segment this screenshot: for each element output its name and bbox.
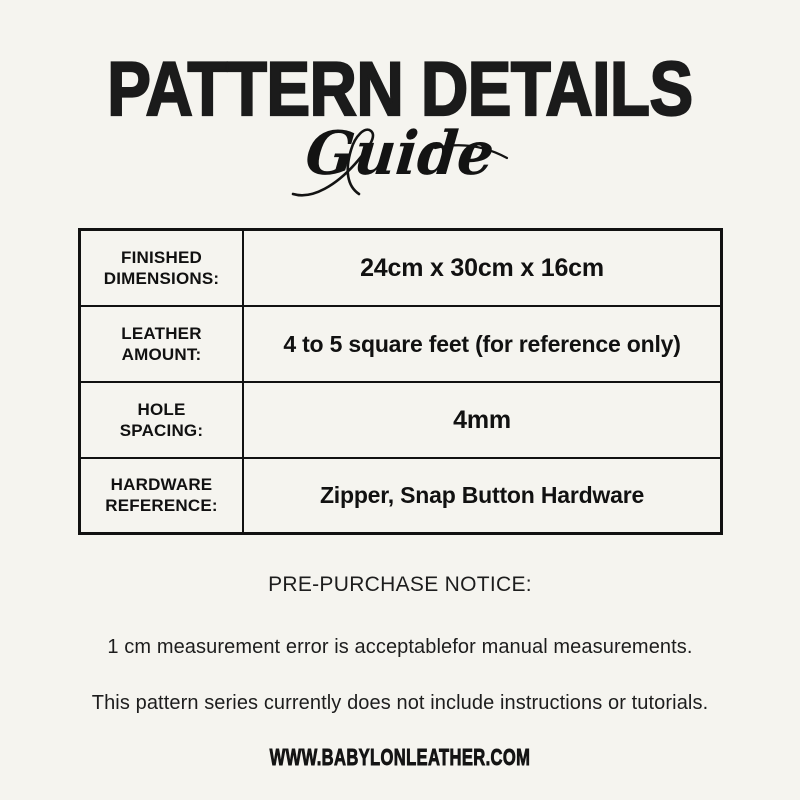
title-script-overlay: Guide xyxy=(0,124,800,184)
table-row: FINISHED DIMENSIONS: 24cm x 30cm x 16cm xyxy=(80,230,722,306)
spec-label-leather-amount: LEATHER AMOUNT: xyxy=(80,306,244,382)
spec-value-hardware-reference: Zipper, Snap Button Hardware xyxy=(243,458,722,534)
notice-line-no-instructions: This pattern series currently does not i… xyxy=(0,690,800,716)
spec-value-leather-amount: 4 to 5 square feet (for reference only) xyxy=(243,306,722,382)
spec-label-hardware-reference: HARDWARE REFERENCE: xyxy=(80,458,244,534)
spec-label-line: REFERENCE: xyxy=(81,495,242,516)
footer-website-url: WWW.BABYLONLEATHER.COM xyxy=(270,744,531,770)
spec-label-line: HARDWARE xyxy=(81,474,242,495)
script-swash-flourish xyxy=(285,124,515,202)
notice-heading: PRE-PURCHASE NOTICE: xyxy=(0,572,800,598)
spec-label-hole-spacing: HOLE SPACING: xyxy=(80,382,244,458)
spec-value-hole-spacing: 4mm xyxy=(243,382,722,458)
header-title-block: PATTERN DETAILS Guide xyxy=(0,52,800,192)
pattern-details-guide-card: PATTERN DETAILS Guide FINISHED DIMENSION… xyxy=(0,0,800,800)
table-row: LEATHER AMOUNT: 4 to 5 square feet (for … xyxy=(80,306,722,382)
spec-label-line: LEATHER xyxy=(81,323,242,344)
table-row: HOLE SPACING: 4mm xyxy=(80,382,722,458)
table-row: HARDWARE REFERENCE: Zipper, Snap Button … xyxy=(80,458,722,534)
spec-label-line: AMOUNT: xyxy=(81,344,242,365)
spec-label-line: HOLE xyxy=(81,399,242,420)
spec-label-finished-dimensions: FINISHED DIMENSIONS: xyxy=(80,230,244,306)
pattern-specs-table: FINISHED DIMENSIONS: 24cm x 30cm x 16cm … xyxy=(78,228,723,535)
spec-value-finished-dimensions: 24cm x 30cm x 16cm xyxy=(243,230,722,306)
pre-purchase-notice-block: PRE-PURCHASE NOTICE: 1 cm measurement er… xyxy=(0,572,800,716)
footer: WWW.BABYLONLEATHER.COM xyxy=(0,744,800,770)
spec-table-body: FINISHED DIMENSIONS: 24cm x 30cm x 16cm … xyxy=(80,230,722,534)
spec-label-line: FINISHED xyxy=(81,247,242,268)
page-title: PATTERN DETAILS xyxy=(56,52,744,128)
title-script-word: Guide xyxy=(303,124,497,184)
spec-label-line: DIMENSIONS: xyxy=(81,268,242,289)
notice-line-measurement-error: 1 cm measurement error is acceptablefor … xyxy=(0,634,800,660)
spec-label-line: SPACING: xyxy=(81,420,242,441)
